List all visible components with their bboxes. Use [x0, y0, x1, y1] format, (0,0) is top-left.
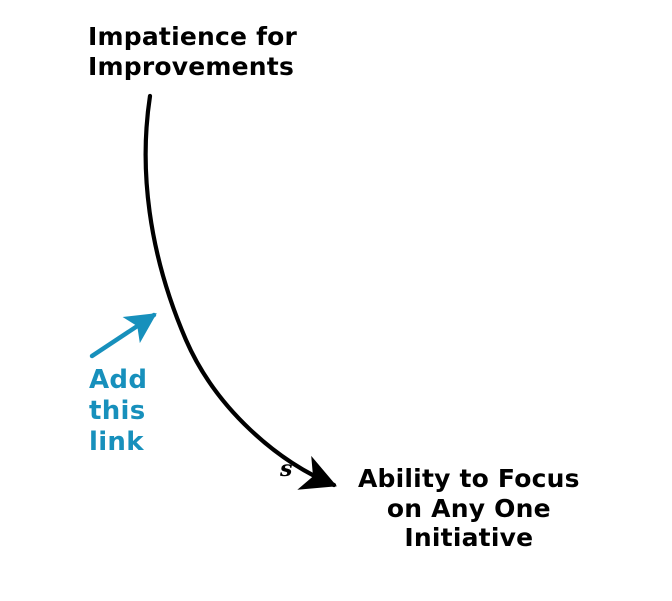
node-label-ability: Ability to Focus on Any One Initiative [358, 464, 580, 553]
node-label-impatience: Impatience for Improvements [88, 22, 297, 81]
diagram-canvas: Impatience for Improvements Ability to F… [0, 0, 672, 601]
annotation-add-this-link: Add this link [89, 365, 147, 459]
annotation-arrow [92, 315, 154, 356]
link-polarity-label: s [280, 456, 292, 482]
causal-link-curve [146, 96, 334, 485]
causal-link-impatience-to-ability [146, 96, 334, 485]
annotation-arrow-line [92, 315, 154, 356]
